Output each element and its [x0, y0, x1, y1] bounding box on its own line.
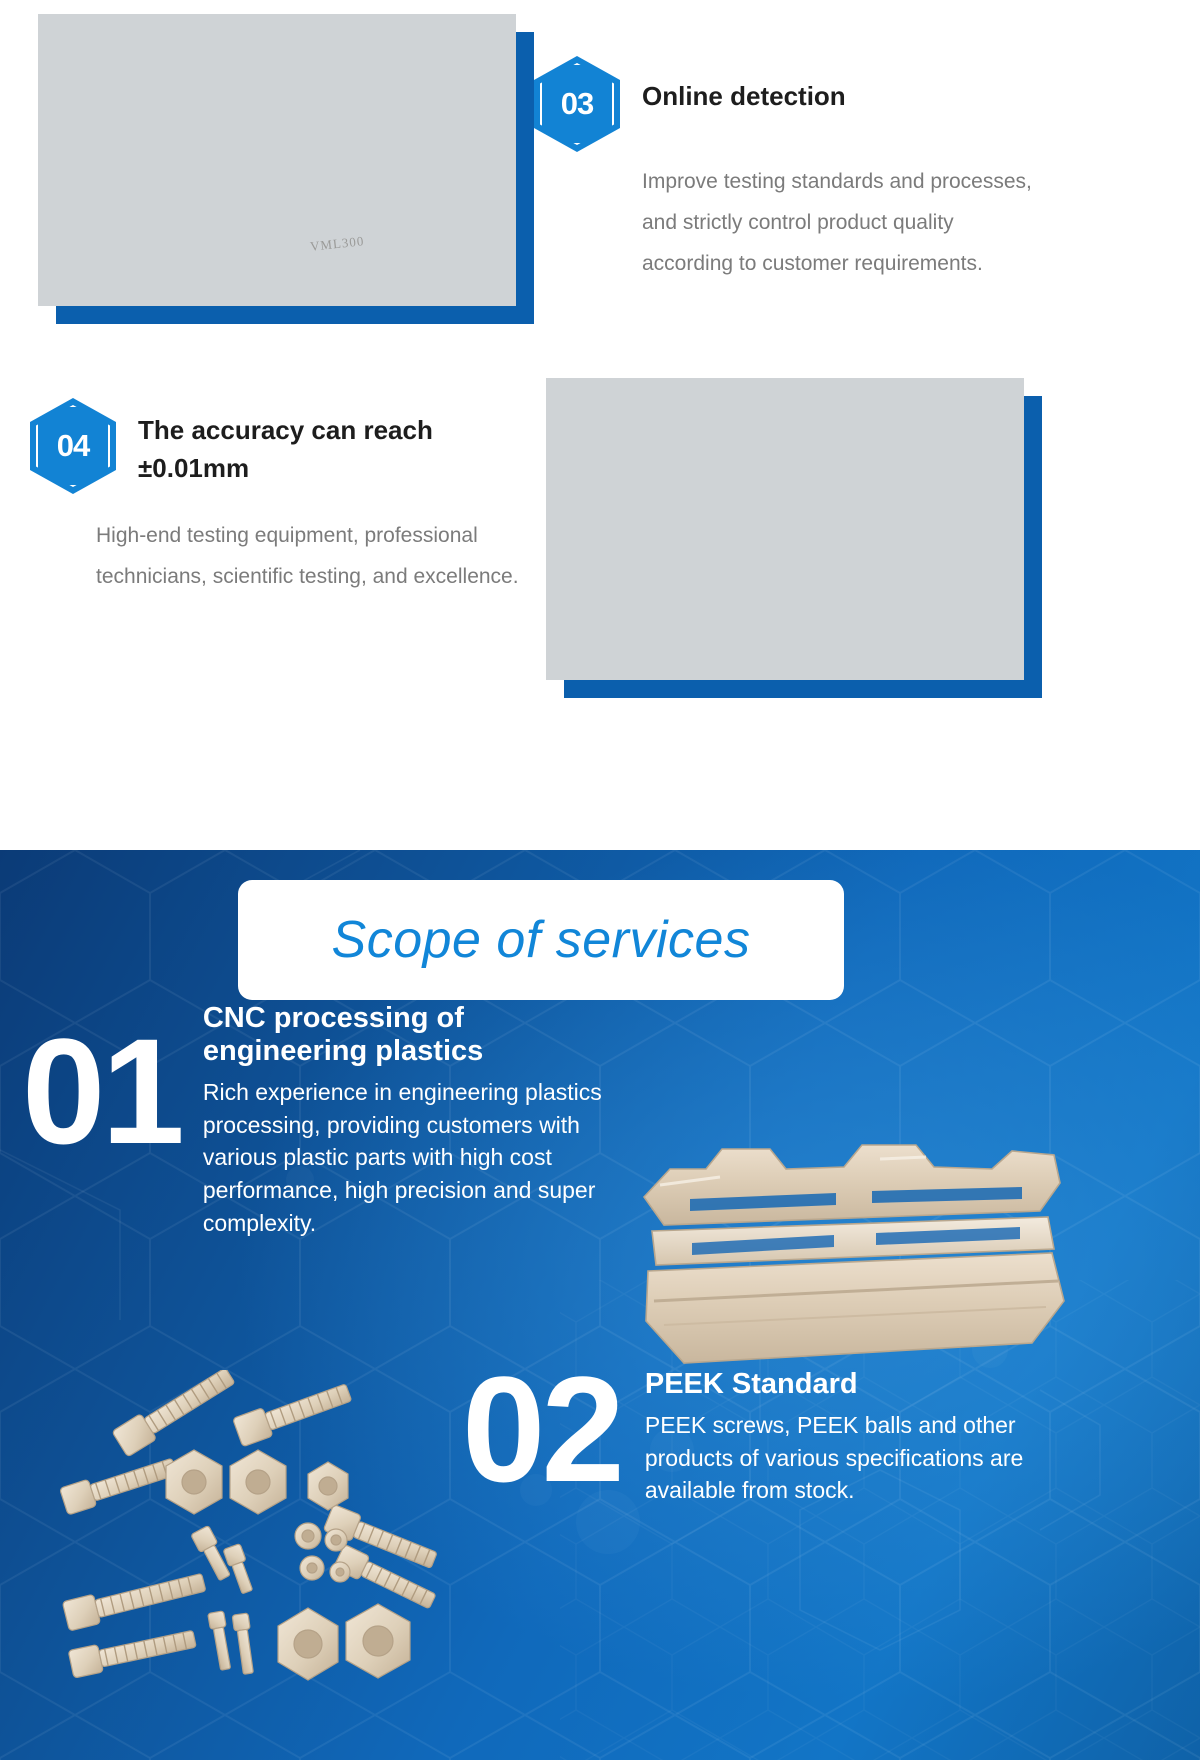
scope-title-text: Scope of services: [332, 910, 751, 970]
service-block-01: 01 CNC processing of engineering plastic…: [22, 1002, 662, 1239]
detection-features-section: 03 Online detection Improve testing stan…: [0, 0, 1200, 850]
feature-block-03: 03 Online detection Improve testing stan…: [534, 56, 1154, 285]
photo-image-detection: [38, 14, 516, 306]
photo-image-tensile: [546, 378, 1024, 680]
service-body-02: PEEK screws, PEEK balls and other produc…: [645, 1409, 1047, 1507]
scope-title-card: Scope of services: [238, 880, 844, 1000]
feature-body-04: High-end testing equipment, professional…: [96, 516, 536, 598]
service-number-col-02: 02: [462, 1350, 621, 1507]
hexagon-badge-icon: 03: [534, 56, 620, 152]
optical-measuring-machine-photo: [38, 14, 516, 306]
tensile-testing-machine-photo: [546, 378, 1024, 680]
service-heading-01: CNC processing of engineering plastics: [203, 1002, 633, 1068]
service-text-col-01: CNC processing of engineering plastics R…: [203, 1002, 633, 1239]
service-number-col-01: 01: [22, 1002, 181, 1239]
feature-heading-04: The accuracy can reach ±0.01mm: [138, 398, 498, 487]
peek-screws-nuts-image: [40, 1370, 470, 1690]
feature-block-04: 04 The accuracy can reach ±0.01mm High-e…: [30, 398, 550, 598]
peek-machined-part-image: [630, 1125, 1070, 1385]
service-text-col-02: PEEK Standard PEEK screws, PEEK balls an…: [645, 1350, 1047, 1507]
service-body-01: Rich experience in engineering plastics …: [203, 1076, 633, 1239]
scope-of-services-section: Scope of services 01 CNC processing of e…: [0, 850, 1200, 1760]
service-number-02: 02: [462, 1362, 621, 1497]
hexagon-badge-icon: 04: [30, 398, 116, 494]
feature-number-04: 04: [30, 398, 116, 494]
service-heading-02: PEEK Standard: [645, 1368, 1047, 1401]
feature-heading-03: Online detection: [642, 56, 846, 116]
feature-body-03: Improve testing standards and processes,…: [642, 162, 1042, 285]
service-block-02: 02 PEEK Standard PEEK screws, PEEK balls…: [462, 1350, 1062, 1507]
feature-number-03: 03: [534, 56, 620, 152]
service-number-01: 01: [22, 1024, 181, 1159]
